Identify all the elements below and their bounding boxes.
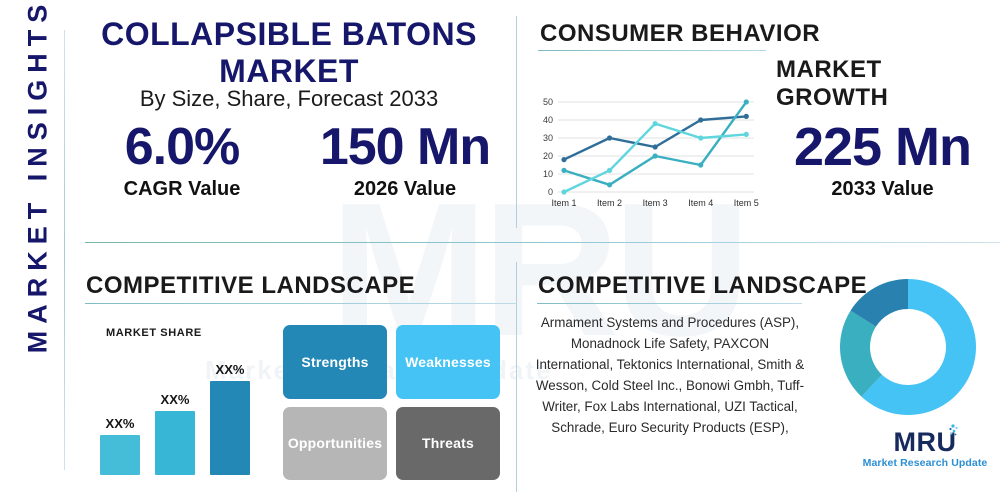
- bar-rect: [100, 435, 140, 475]
- kpi-2033-value: 225 Mn: [770, 118, 995, 176]
- kpi-2026-value: 150 Mn: [300, 118, 510, 176]
- x-axis-tick-label: Item 2: [597, 198, 622, 208]
- section-competitive-landscape-left-rule: [85, 303, 517, 304]
- y-axis-tick-label: 40: [543, 115, 553, 125]
- section-market-growth-title: MARKET GROWTH: [776, 56, 1000, 112]
- line-data-point: [561, 189, 566, 194]
- x-axis-tick-label: Item 3: [643, 198, 668, 208]
- y-axis-tick-label: 50: [543, 97, 553, 107]
- line-data-point: [744, 132, 749, 137]
- logo-tagline: Market Research Update: [855, 457, 995, 469]
- x-axis-tick-label: Item 4: [688, 198, 713, 208]
- logo-name: MRU: [894, 428, 957, 456]
- logo-spark-icon: [946, 423, 960, 439]
- page-subtitle: By Size, Share, Forecast 2033: [74, 86, 504, 112]
- x-axis-tick-label: Item 5: [734, 198, 759, 208]
- kpi-cagr-value: 6.0%: [92, 118, 272, 176]
- section-competitive-landscape-left-title: COMPETITIVE LANDSCAPE: [86, 272, 415, 300]
- line-data-point: [561, 157, 566, 162]
- bar-value-label: XX%: [93, 416, 147, 431]
- kpi-cagr: 6.0% CAGR Value: [92, 118, 272, 201]
- line-data-point: [653, 121, 658, 126]
- mru-logo: MRU Market Research Update: [855, 428, 995, 469]
- bar-value-label: XX%: [148, 392, 202, 407]
- line-data-point: [561, 168, 566, 173]
- bar-value-label: XX%: [203, 362, 257, 377]
- bar-rect: [210, 381, 250, 475]
- bar-column: XX%: [100, 357, 140, 475]
- market-share-donut-chart: [838, 277, 978, 417]
- bar-column: XX%: [155, 357, 195, 475]
- bar-rect: [155, 411, 195, 475]
- line-data-point: [744, 114, 749, 119]
- kpi-2026: 150 Mn 2026 Value: [300, 118, 510, 201]
- swot-grid: StrengthsWeaknessesOpportunitiesThreats: [283, 325, 500, 480]
- line-data-point: [653, 144, 658, 149]
- kpi-cagr-caption: CAGR Value: [92, 178, 272, 201]
- swot-box-strengths[interactable]: Strengths: [283, 325, 387, 399]
- line-data-point: [698, 162, 703, 167]
- horizontal-divider: [85, 242, 1000, 243]
- swot-box-opportunities[interactable]: Opportunities: [283, 407, 387, 481]
- kpi-2033: 225 Mn 2033 Value: [770, 118, 995, 201]
- swot-box-weaknesses[interactable]: Weaknesses: [396, 325, 500, 399]
- line-data-point: [607, 182, 612, 187]
- line-data-point: [744, 99, 749, 104]
- y-axis-tick-label: 0: [548, 187, 553, 197]
- kpi-2026-caption: 2026 Value: [300, 178, 510, 201]
- y-axis-tick-label: 20: [543, 151, 553, 161]
- line-data-point: [607, 168, 612, 173]
- section-consumer-behavior-title: CONSUMER BEHAVIOR: [540, 20, 820, 48]
- x-axis-tick-label: Item 1: [551, 198, 576, 208]
- line-data-point: [607, 135, 612, 140]
- market-share-bar-chart: XX%XX%XX%: [100, 340, 265, 475]
- market-share-label: MARKET SHARE: [106, 327, 202, 339]
- swot-box-threats[interactable]: Threats: [396, 407, 500, 481]
- page-title: COLLAPSIBLE BATONS MARKET: [74, 16, 504, 90]
- line-data-point: [653, 153, 658, 158]
- section-competitive-landscape-right-title: COMPETITIVE LANDSCAPE: [538, 272, 867, 300]
- section-consumer-behavior-rule: [538, 50, 766, 51]
- kpi-2033-caption: 2033 Value: [770, 178, 995, 201]
- side-divider: [64, 30, 65, 470]
- vertical-divider-bottom: [516, 262, 517, 492]
- y-axis-tick-label: 10: [543, 169, 553, 179]
- bar-column: XX%: [210, 357, 250, 475]
- line-data-point: [698, 117, 703, 122]
- market-insights-side-label: MARKET INSIGHTS: [23, 0, 54, 396]
- company-list: Armament Systems and Procedures (ASP), M…: [534, 312, 806, 438]
- consumer-behavior-line-chart: 01020304050Item 1Item 2Item 3Item 4Item …: [528, 92, 760, 222]
- section-competitive-landscape-right-rule: [537, 303, 802, 304]
- line-data-point: [698, 135, 703, 140]
- y-axis-tick-label: 30: [543, 133, 553, 143]
- line-series: [564, 102, 746, 185]
- vertical-divider-top: [516, 16, 517, 228]
